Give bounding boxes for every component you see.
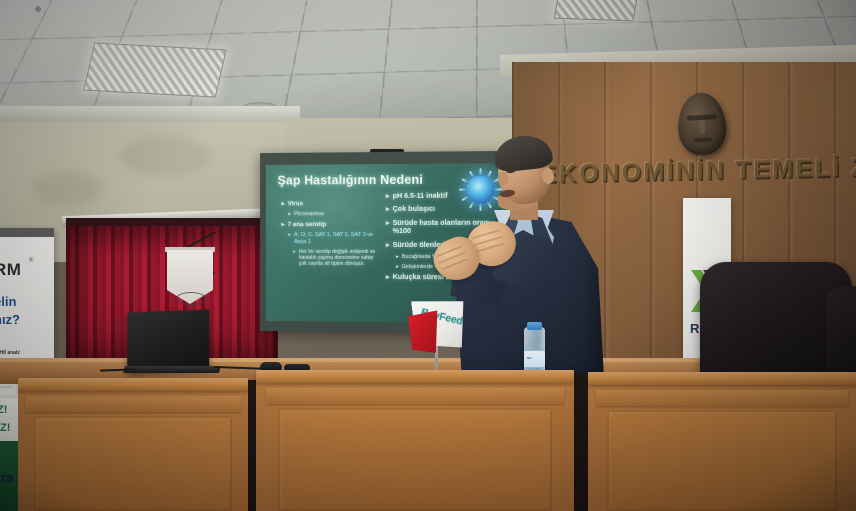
registered-mark-icon: ® [29,258,33,264]
front-desk-right [588,372,856,511]
front-desk-center [256,370,574,511]
office-chair-secondary[interactable] [826,286,856,378]
banner-headline-1: elin [0,294,16,309]
bottle-label: su [524,350,545,368]
slide-bullet: Picornavirus [294,211,380,218]
bottle-cap[interactable] [527,322,542,330]
banner-header-strip [0,228,54,237]
desk-front-panel [278,408,551,511]
desk-front-panel [607,410,837,511]
banner-headline-2: nız? [0,312,20,327]
ear [541,167,555,184]
bullet-marker: ▸ [288,232,291,245]
laptop-screen[interactable] [127,309,209,372]
desk-rail [25,396,241,412]
wall-soffit [0,106,300,122]
banner-line-3: tra [0,470,14,485]
desk-ledge [588,372,856,385]
banner-line-2: İZ! [0,422,10,434]
desk-ledge [256,370,574,383]
bullet-marker: ▸ [386,192,390,201]
slide-bullet: A, O, C, SAT 1, SAT 2, SAT 3 ve Asya 1 [294,232,380,245]
pennant-logo-icon [176,292,206,305]
slide-title: Şap Hastalığının Nedeni [278,173,423,188]
presenter [438,138,606,378]
desk-front-panel [34,416,232,511]
desk-rail [596,390,848,406]
bullet-marker: ▸ [386,219,390,236]
banner-line-1: Z! [0,404,7,416]
bullet-marker: ▸ [282,200,285,207]
presentation-hall-photo: İ EKONOMİNİN TEMELİ Z Şap Hastalığının N… [0,0,856,511]
bottle-label-text: su [527,355,532,360]
banner-brand: RM [0,260,21,280]
slide-bullet: 7 ana serotip [288,221,380,229]
bullet-marker: ▸ [396,254,399,260]
desk-gap [574,374,588,511]
desk-ledge [18,378,248,391]
bullet-marker: ▸ [386,205,390,213]
bullet-marker: ▸ [293,249,296,267]
bullet-marker: ▸ [386,241,390,249]
nose [498,172,508,186]
banner-subtext: s. Hiİ analz [0,350,20,356]
bullet-marker: ▸ [386,273,390,281]
bullet-marker: ▸ [288,211,291,218]
slide-bullet: Virus [288,200,380,208]
slide-bullets-left: ▸Virus ▸Picornavirus ▸7 ana serotip ▸A, … [282,200,381,271]
front-desk-left [18,378,248,511]
banner-footnote-2: Laboratory [0,384,13,389]
laptop-base[interactable] [123,366,221,373]
desk-rail [266,388,565,404]
bullet-marker: ▸ [282,221,285,228]
slide-bullet: Her bir serotip değişik antijenik ve has… [299,249,380,267]
bullet-marker: ▸ [396,264,399,270]
